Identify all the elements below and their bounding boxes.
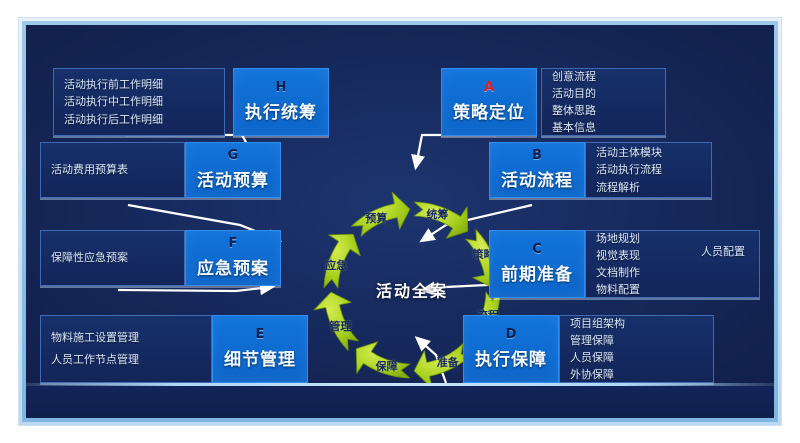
list-item: 外协保障 [570, 366, 703, 383]
list-item: 活动执行中工作明细 [64, 93, 214, 110]
floating-note-personnel: 人员配置 [701, 243, 745, 259]
list-item: 活动目的 [552, 85, 655, 102]
module-code: F [229, 237, 238, 250]
module-name: 前期准备 [501, 260, 573, 285]
list-item: 活动费用预算表 [51, 161, 174, 178]
ring-segment[interactable] [414, 202, 468, 238]
list-item: 人员保障 [570, 349, 703, 366]
module-name: 执行保障 [475, 345, 547, 370]
module-name: 策略定位 [453, 98, 525, 123]
module-code: D [506, 328, 517, 341]
module-name: 细节管理 [224, 345, 296, 370]
module-box-E[interactable]: E 细节管理 [212, 315, 308, 383]
module-name: 执行统筹 [245, 98, 317, 123]
module-name: 应急预案 [197, 254, 269, 279]
module-box-B[interactable]: B 活动流程 [489, 142, 585, 198]
list-item: 活动执行前工作明细 [64, 76, 214, 93]
list-item: 流程解析 [596, 179, 701, 196]
list-item: 活动执行流程 [596, 161, 701, 178]
list-item: 物料配置 [596, 281, 749, 298]
list-item: 保障性应急预案 [51, 249, 174, 266]
ring-segment[interactable] [324, 234, 360, 288]
list-item: 整体思路 [552, 102, 655, 119]
module-code: H [276, 81, 287, 94]
list-item: 物料施工设置管理 [51, 327, 201, 349]
list-item: 创意流程 [552, 68, 655, 85]
module-list-F: 保障性应急预案 [40, 230, 185, 286]
module-code: E [256, 328, 265, 341]
list-item: 人员工作节点管理 [51, 349, 201, 371]
module-box-D[interactable]: D 执行保障 [463, 315, 559, 383]
ring-segment[interactable] [314, 292, 358, 350]
bottom-base-panel [26, 386, 774, 418]
list-item: 活动执行后工作明细 [64, 111, 214, 128]
module-code: A [484, 81, 494, 94]
list-item: 基本信息 [552, 119, 655, 136]
module-code: B [532, 149, 542, 162]
module-name: 活动流程 [501, 166, 573, 191]
module-list-C: 场地规划 视觉表现 文档制作 物料配置 [585, 230, 760, 298]
module-box-H[interactable]: H 执行统筹 [233, 68, 329, 136]
list-item: 项目组架构 [570, 315, 703, 332]
module-code: C [532, 243, 542, 256]
module-list-H: 活动执行前工作明细 活动执行中工作明细 活动执行后工作明细 [53, 68, 225, 136]
list-item: 活动主体模块 [596, 144, 701, 161]
module-code: G [228, 149, 239, 162]
diagram-root: 统筹策略流程准备保障管理应急预算 活动全案 活动执行前工作明细 活动执行中工作明… [0, 0, 800, 443]
module-box-F[interactable]: F 应急预案 [185, 230, 281, 286]
ring-segment[interactable] [356, 342, 410, 378]
module-list-G: 活动费用预算表 [40, 142, 185, 198]
ring-segment[interactable] [351, 192, 409, 236]
list-item: 管理保障 [570, 332, 703, 349]
list-item: 文档制作 [596, 264, 749, 281]
diagram-canvas: 统筹策略流程准备保障管理应急预算 活动全案 活动执行前工作明细 活动执行中工作明… [26, 25, 774, 418]
module-box-C[interactable]: C 前期准备 [489, 230, 585, 298]
module-box-G[interactable]: G 活动预算 [185, 142, 281, 198]
module-list-E: 物料施工设置管理 人员工作节点管理 [40, 315, 212, 383]
module-name: 活动预算 [197, 166, 269, 191]
module-box-A[interactable]: A 策略定位 [441, 68, 537, 136]
module-list-D: 项目组架构 管理保障 人员保障 外协保障 [559, 315, 714, 383]
module-list-A: 创意流程 活动目的 整体思路 基本信息 [541, 68, 666, 136]
module-list-B: 活动主体模块 活动执行流程 流程解析 [585, 142, 712, 198]
